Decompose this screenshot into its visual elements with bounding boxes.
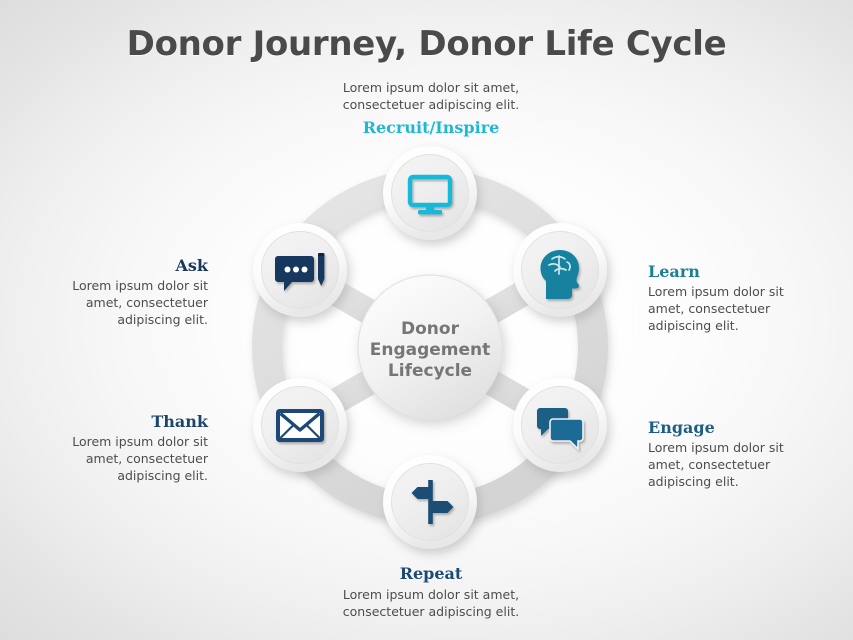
callout-recruit-body: Lorem ipsum dolor sit amet, consectetuer… — [296, 80, 566, 114]
callout-repeat-heading: Repeat — [296, 564, 566, 583]
callout-thank-body-line2: amet, consectetuer — [86, 451, 208, 466]
slide-canvas: Donor Journey, Donor Life Cycle — [0, 0, 853, 640]
callout-recruit-body-line1: Lorem ipsum dolor sit amet, — [343, 80, 519, 95]
callout-repeat-body-line2: consectetuer adipiscing elit. — [343, 604, 519, 619]
callout-engage-body-line2: amet, consectetuer — [648, 457, 770, 472]
node-engage[interactable] — [513, 378, 607, 472]
callout-learn: Learn Lorem ipsum dolor sit amet, consec… — [648, 262, 823, 334]
callout-learn-body-line3: adipiscing elit. — [648, 318, 739, 333]
callout-engage-body-line3: adipiscing elit. — [648, 474, 739, 489]
center-line-2: Engagement — [370, 340, 491, 360]
node-ask[interactable] — [253, 223, 347, 317]
callout-engage: Engage Lorem ipsum dolor sit amet, conse… — [648, 418, 826, 490]
callout-thank-body-line1: Lorem ipsum dolor sit — [72, 434, 208, 449]
node-repeat[interactable] — [383, 455, 477, 549]
callout-ask-body-line2: amet, consectetuer — [86, 295, 208, 310]
callout-thank-body: Lorem ipsum dolor sit amet, consectetuer… — [40, 434, 208, 484]
callout-learn-body-line2: amet, consectetuer — [648, 301, 770, 316]
center-line-1: Donor — [401, 319, 460, 339]
center-hub[interactable]: Donor Engagement Lifecycle — [358, 275, 502, 419]
page-title: Donor Journey, Donor Life Cycle — [0, 24, 853, 64]
callout-ask: Ask Lorem ipsum dolor sit amet, consecte… — [40, 256, 208, 328]
callout-learn-heading: Learn — [648, 262, 823, 281]
callout-thank: Thank Lorem ipsum dolor sit amet, consec… — [40, 412, 208, 484]
callout-engage-body: Lorem ipsum dolor sit amet, consectetuer… — [648, 440, 826, 490]
node-thank[interactable] — [253, 378, 347, 472]
callout-engage-heading: Engage — [648, 418, 826, 437]
callout-thank-body-line3: adipiscing elit. — [117, 468, 208, 483]
callout-ask-body-line1: Lorem ipsum dolor sit — [72, 278, 208, 293]
callout-recruit-heading: Recruit/Inspire — [296, 118, 566, 137]
callout-recruit-inspire: Lorem ipsum dolor sit amet, consectetuer… — [296, 80, 566, 140]
center-line-3: Lifecycle — [388, 361, 472, 381]
callout-repeat: Repeat Lorem ipsum dolor sit amet, conse… — [296, 564, 566, 621]
callout-repeat-body-line1: Lorem ipsum dolor sit amet, — [343, 587, 519, 602]
callout-recruit-body-line2: consectetuer adipiscing elit. — [343, 97, 519, 112]
callout-ask-body-line3: adipiscing elit. — [117, 312, 208, 327]
node-learn[interactable] — [513, 223, 607, 317]
callout-repeat-body: Lorem ipsum dolor sit amet, consectetuer… — [296, 587, 566, 621]
callout-learn-body-line1: Lorem ipsum dolor sit — [648, 284, 784, 299]
callout-engage-body-line1: Lorem ipsum dolor sit — [648, 440, 784, 455]
callout-learn-body: Lorem ipsum dolor sit amet, consectetuer… — [648, 284, 823, 334]
node-recruit-inspire[interactable] — [383, 146, 477, 240]
envelope-icon — [278, 411, 322, 440]
donor-lifecycle-diagram: Donor Engagement Lifecycle — [212, 142, 648, 568]
callout-ask-heading: Ask — [40, 256, 208, 275]
callout-ask-body: Lorem ipsum dolor sit amet, consectetuer… — [40, 278, 208, 328]
callout-thank-heading: Thank — [40, 412, 208, 431]
